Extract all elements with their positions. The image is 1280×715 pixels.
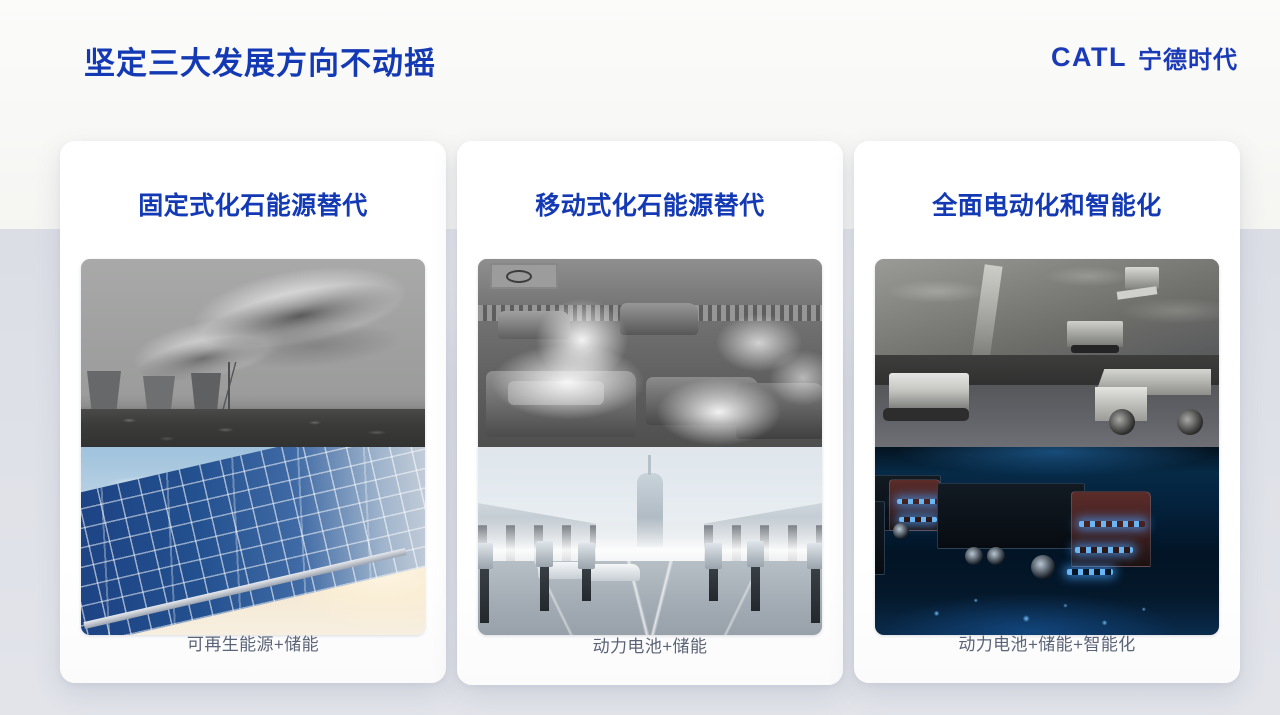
card-caption: 动力电池+储能 <box>457 632 843 657</box>
truck-cab <box>1071 491 1151 567</box>
exhaust-fume <box>654 377 784 447</box>
bulldozer <box>889 373 969 413</box>
card-stationary-fossil-replacement[interactable]: 固定式化石能源替代 可再生能源+储能 <box>60 141 446 683</box>
electric-smart-trucks-glow-photo <box>875 447 1219 635</box>
coal-power-plant-smokestacks-photo <box>81 259 425 447</box>
truck-wheel <box>1109 409 1135 435</box>
charging-post <box>582 565 591 601</box>
led-light-strip <box>1075 547 1133 553</box>
car <box>620 303 698 335</box>
charging-post <box>751 563 760 611</box>
parking-ground <box>478 561 822 635</box>
card-caption: 可再生能源+储能 <box>60 630 446 655</box>
card-title: 全面电动化和智能化 <box>854 186 1240 222</box>
truck-wheel <box>1177 409 1203 435</box>
cooling-tower <box>143 376 175 413</box>
haul-truck-distant <box>1067 321 1123 347</box>
mine-slope <box>875 259 1219 367</box>
led-light-strip <box>899 517 937 522</box>
card-photo-stack <box>478 259 822 635</box>
haul-truck-foreground <box>1095 369 1211 435</box>
charging-post <box>540 563 549 611</box>
parked-ev <box>588 564 640 581</box>
card-title: 移动式化石能源替代 <box>457 186 843 222</box>
traffic-congestion-exhaust-photo <box>478 259 822 447</box>
led-light-strip <box>1079 521 1145 527</box>
exhaust-fume <box>488 343 648 421</box>
cooling-tower <box>87 371 121 413</box>
card-mobile-fossil-replacement[interactable]: 移动式化石能源替代 <box>457 141 843 685</box>
truck-trailer <box>875 501 885 575</box>
card-caption: 动力电池+储能+智能化 <box>854 630 1240 655</box>
led-light-strip <box>1067 569 1113 575</box>
truck-wheel <box>893 523 909 539</box>
led-light-strip <box>897 499 941 504</box>
cooling-tower <box>191 373 221 413</box>
truck-wheel <box>965 547 983 565</box>
card-row: 固定式化石能源替代 可再生能源+储能 移动式化石能源替代 <box>0 0 1280 715</box>
charging-post <box>811 565 820 623</box>
barren-ground <box>81 409 425 447</box>
card-title: 固定式化石能源替代 <box>60 186 446 222</box>
truck-wheel <box>1031 555 1055 579</box>
charging-post <box>709 565 718 601</box>
open-pit-mining-trucks-photo <box>875 259 1219 447</box>
truck-wheel <box>987 547 1005 565</box>
card-photo-stack <box>875 259 1219 635</box>
truck-trailer <box>937 483 1085 549</box>
power-pylon <box>221 362 237 414</box>
charging-post <box>480 565 489 623</box>
ev-charging-station-plaza-photo <box>478 447 822 635</box>
solar-panel-array-sunset-photo <box>81 447 425 635</box>
road-sign <box>490 263 558 289</box>
card-photo-stack <box>81 259 425 635</box>
floor-light-dots <box>903 577 1183 629</box>
card-full-electrification-intelligence[interactable]: 全面电动化和智能化 <box>854 141 1240 683</box>
mining-excavator <box>1125 267 1159 289</box>
